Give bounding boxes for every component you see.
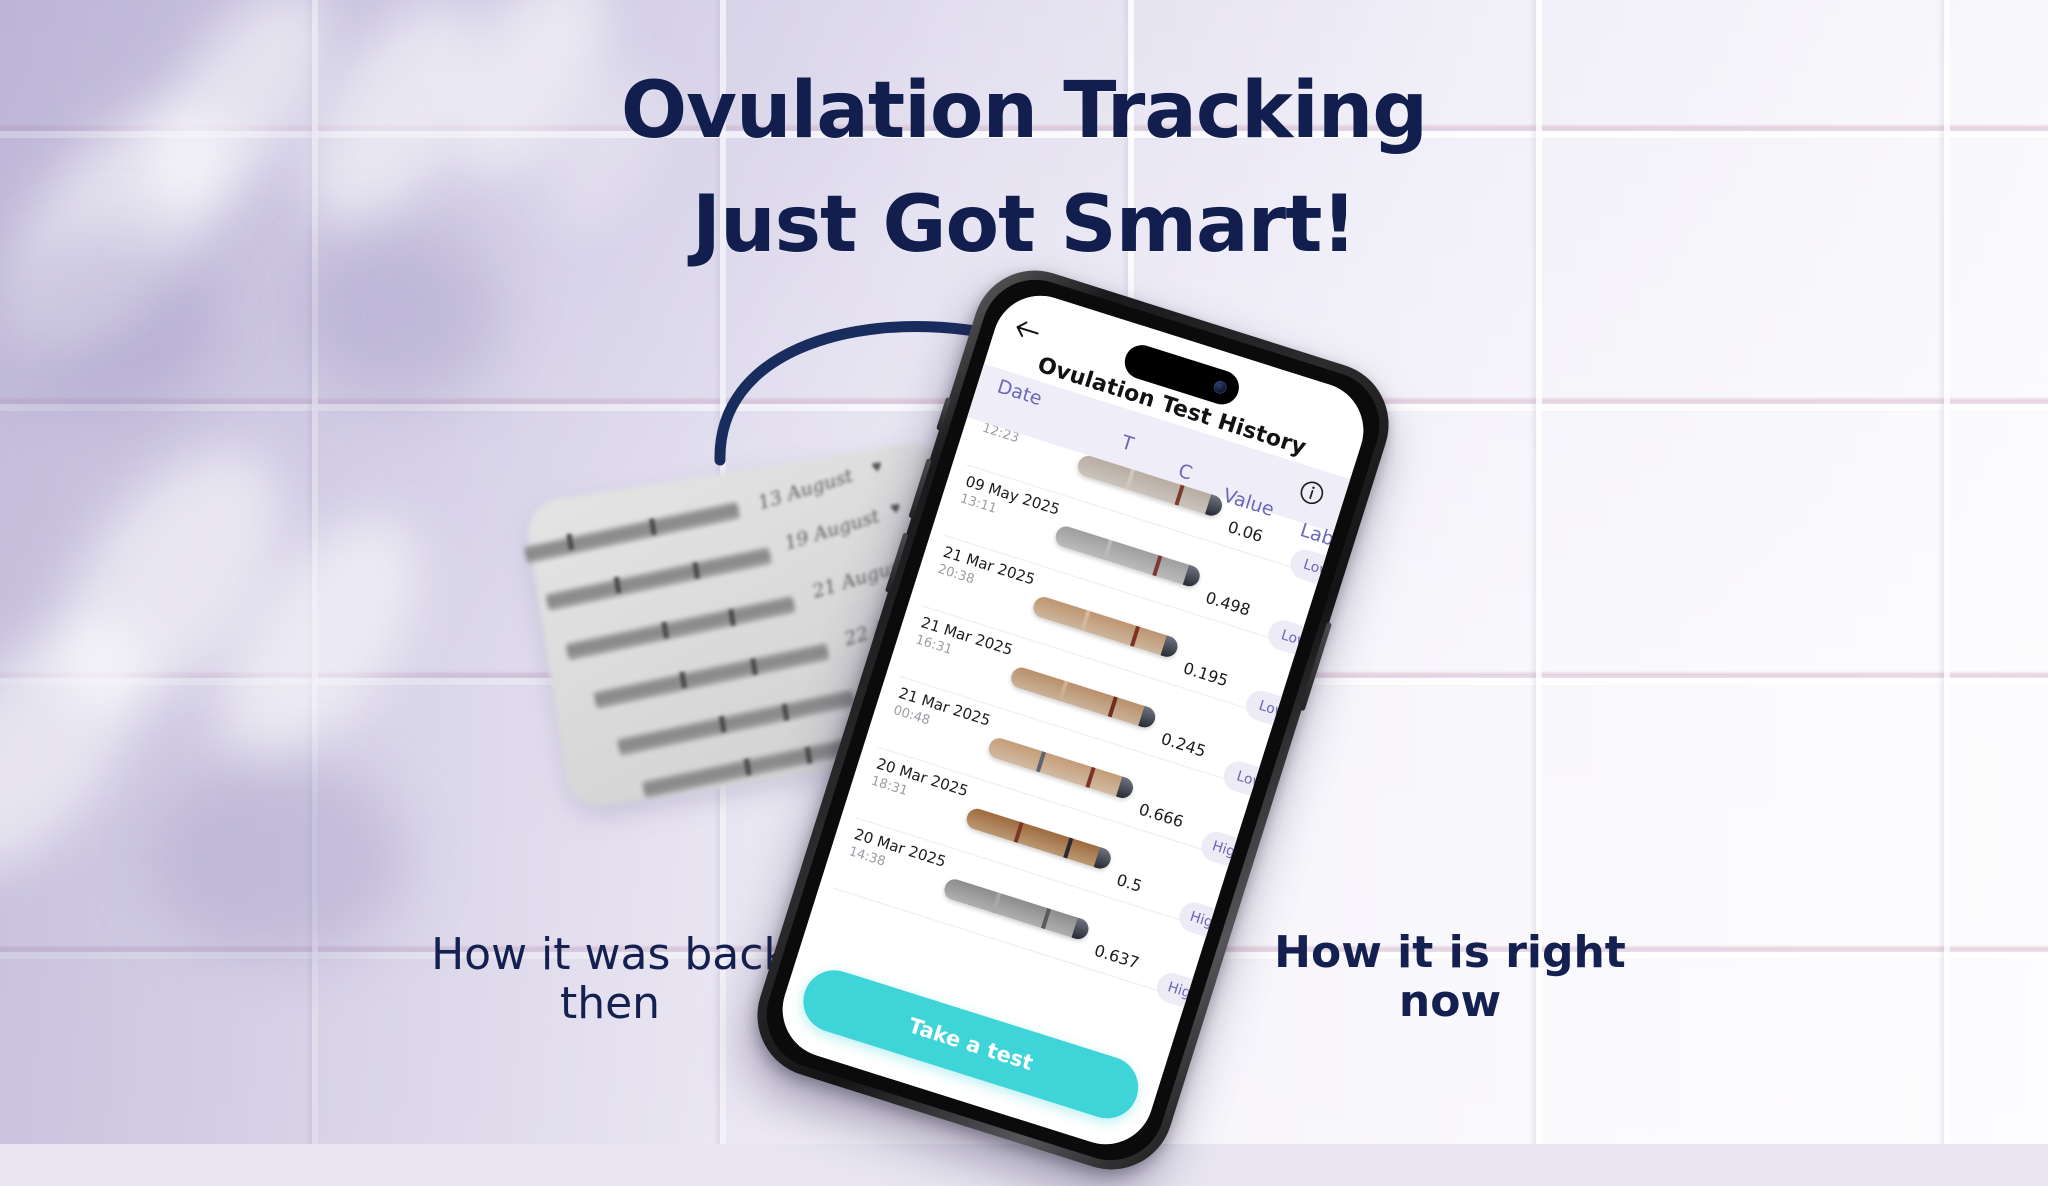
arrow-left-icon[interactable] xyxy=(1011,316,1042,345)
caption-left: How it was back then xyxy=(430,930,790,1029)
strip-band-c xyxy=(1063,837,1073,858)
strip-tip xyxy=(1138,706,1158,730)
test-strip-image xyxy=(942,877,1091,942)
row-value: 0.5 xyxy=(1114,870,1144,896)
strip-band-t xyxy=(1058,681,1068,702)
strip-band-t xyxy=(1036,751,1046,772)
strip-band-t xyxy=(991,892,1001,913)
strip-tip xyxy=(1071,918,1091,942)
row-value: 0.498 xyxy=(1203,588,1252,620)
strip-tip xyxy=(1116,776,1136,800)
strip-tip xyxy=(1094,847,1114,871)
strip-band-c xyxy=(1108,696,1118,717)
row-value: 0.195 xyxy=(1181,658,1230,690)
page-title-line1: Ovulation Tracking xyxy=(0,66,2048,156)
column-header-c: C xyxy=(1176,460,1195,485)
grout-line-v xyxy=(1944,0,1950,1144)
strip-band-c xyxy=(1152,555,1162,576)
row-value: 0.666 xyxy=(1137,800,1186,832)
strip-band-c xyxy=(1130,626,1140,647)
strip-band-c xyxy=(1085,767,1095,788)
row-value: 0.245 xyxy=(1159,729,1208,761)
strip-band-t xyxy=(1014,822,1024,843)
strip-band-t xyxy=(1125,469,1135,490)
row-value: 0.06 xyxy=(1226,517,1266,546)
strip-band-t xyxy=(1103,539,1113,560)
strip-band-c xyxy=(1041,908,1051,929)
strip-tip xyxy=(1161,635,1181,659)
strip-tip xyxy=(1183,565,1203,589)
row-value: 0.637 xyxy=(1092,941,1141,973)
column-header-date: Date xyxy=(995,375,1045,410)
column-header-t: T xyxy=(1119,431,1137,455)
caption-right: How it is right now xyxy=(1250,928,1650,1027)
strip-band-t xyxy=(1080,610,1090,631)
front-camera-icon xyxy=(1212,379,1228,395)
leaf-shadow xyxy=(150,760,410,960)
strip-band-c xyxy=(1174,485,1184,506)
page-title-line2: Just Got Smart! xyxy=(0,180,2048,270)
